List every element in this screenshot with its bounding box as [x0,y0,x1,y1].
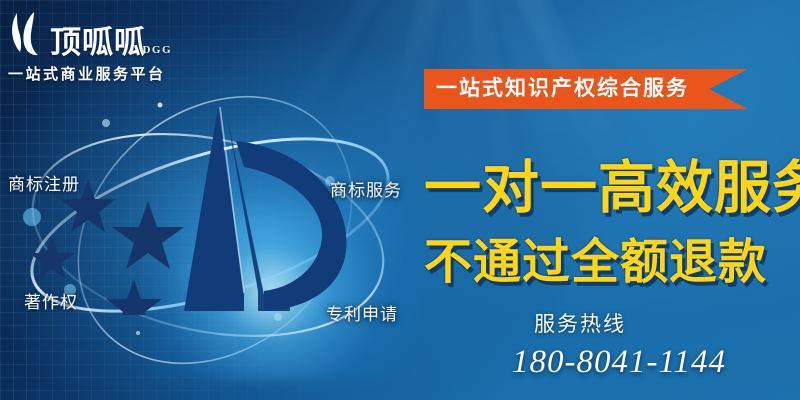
brand-name: 顶呱呱 [50,27,146,58]
brand-logo: 顶呱呱 DGG 一站式商业服务平台 [8,8,178,84]
promo-ribbon-text: 一站式知识产权综合服务 [424,69,748,109]
promo-ribbon: 一站式知识产权综合服务 [424,69,748,109]
brand-latin: DGG [142,44,172,56]
promo-banner: 顶呱呱 DGG 一站式商业服务平台 商标注册 商标服务 著作权 专利申请 一站式… [0,0,800,400]
service-label-copyright: 著作权 [24,288,78,313]
leaf-flame-icon [8,10,46,58]
hotline-number: 180-8041-1144 [512,344,726,381]
service-label-trademark-registration: 商标注册 [8,170,80,195]
service-label-trademark-service: 商标服务 [330,176,402,201]
headline-primary: 一对一高效服务 [424,142,800,224]
headline-secondary: 不通过全额退款 [424,222,767,292]
hotline-label: 服务热线 [534,308,626,338]
brand-tagline: 一站式商业服务平台 [8,63,178,84]
service-label-patent-application: 专利申请 [326,300,398,325]
